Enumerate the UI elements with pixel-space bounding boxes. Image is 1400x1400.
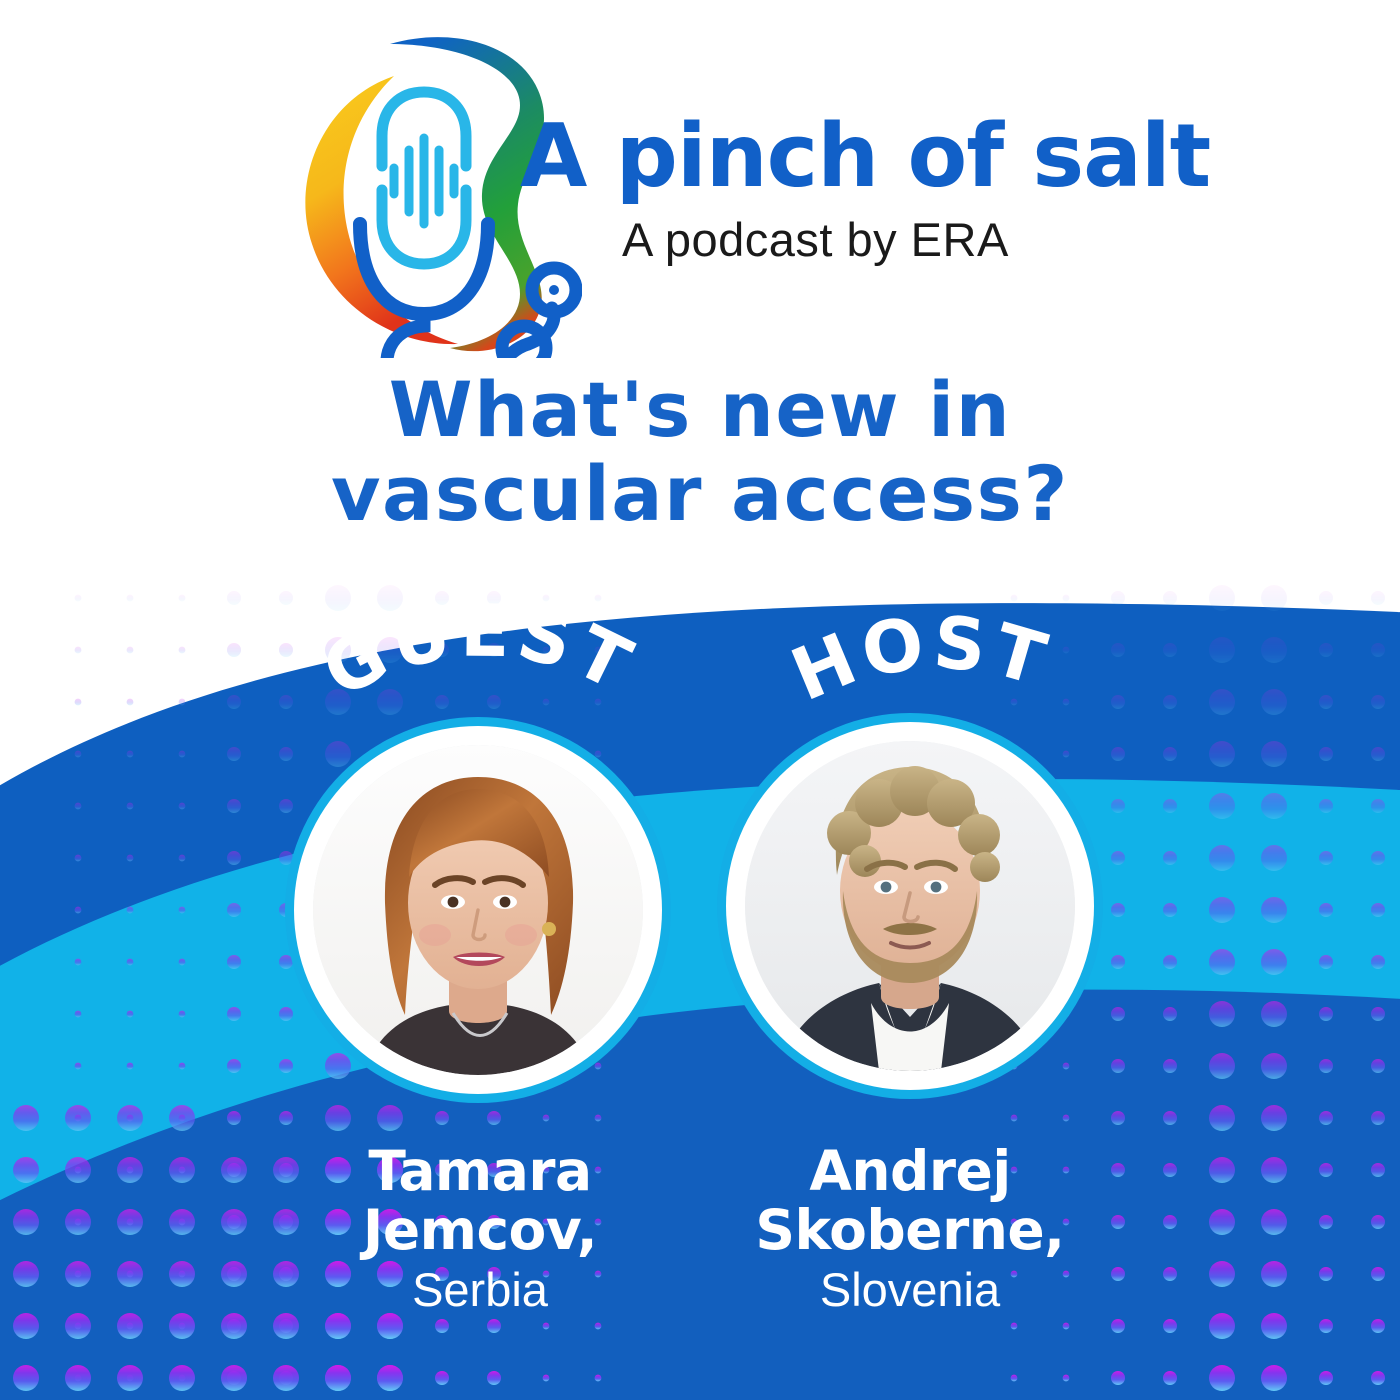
- episode-title-line-1: What's new in: [0, 368, 1400, 452]
- logo-wordmark: A pinch of salt A podcast by ERA: [520, 113, 1160, 283]
- brand-logo: A pinch of salt A podcast by ERA: [0, 18, 1400, 348]
- portrait-of-andrej-skoberne: [745, 741, 1075, 1071]
- episode-title: What's new in vascular access?: [0, 368, 1400, 537]
- episode-title-line-2: vascular access?: [0, 452, 1400, 536]
- host-name-line-2: Skoberne,: [700, 1201, 1120, 1260]
- guest-name-line-2: Jemcov,: [270, 1201, 690, 1260]
- host-country: Slovenia: [700, 1263, 1120, 1318]
- person-name-host: Andrej Skoberne, Slovenia: [700, 1142, 1120, 1317]
- logo-title: A pinch of salt: [520, 113, 1160, 200]
- podcast-cover-art: A pinch of salt A podcast by ERA What's …: [0, 0, 1400, 1400]
- avatar-guest: [294, 726, 662, 1094]
- guest-country: Serbia: [270, 1263, 690, 1318]
- person-name-guest: Tamara Jemcov, Serbia: [270, 1142, 690, 1317]
- avatar-host: [726, 722, 1094, 1090]
- logo-subtitle: A podcast by ERA: [622, 216, 1160, 263]
- host-name-line-1: Andrej: [700, 1142, 1120, 1201]
- guest-name-line-1: Tamara: [270, 1142, 690, 1201]
- portrait-of-tamara-jemcov: [313, 745, 643, 1075]
- avatar-photo-host: [745, 741, 1075, 1071]
- avatar-photo-guest: [313, 745, 643, 1075]
